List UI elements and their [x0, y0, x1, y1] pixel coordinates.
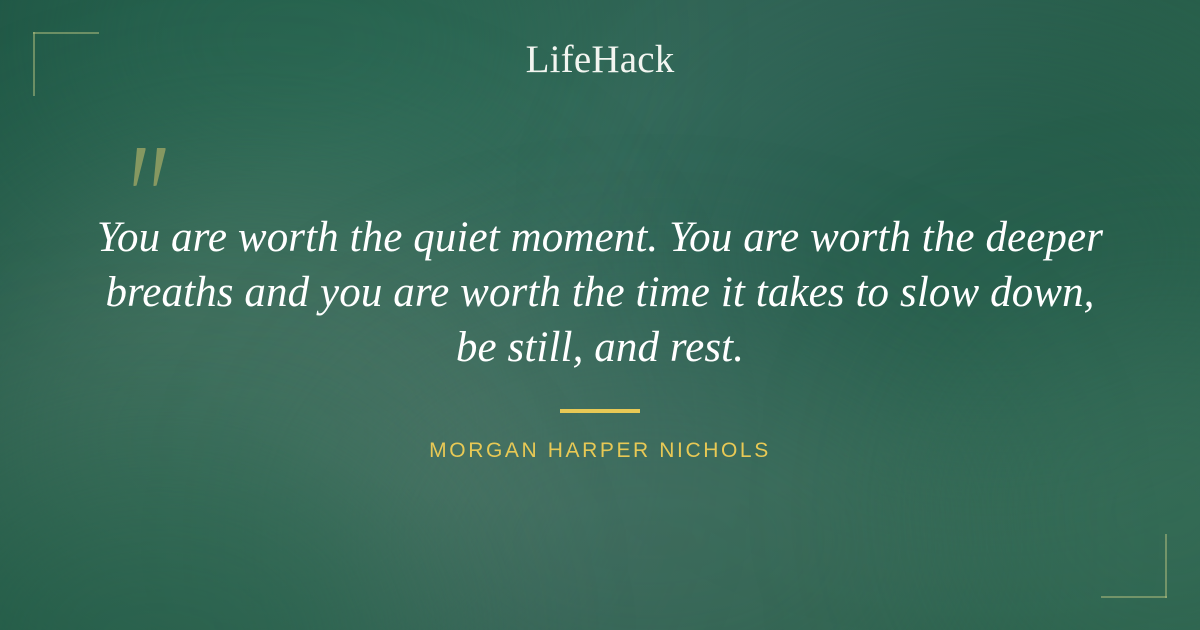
quote-stroke-right: [149, 148, 166, 186]
corner-bracket-icon-bottom-right: [1101, 534, 1167, 598]
attribution-divider: [560, 409, 640, 413]
quote-stroke-left: [129, 148, 146, 186]
quote-card: LifeHack You are worth the quiet moment.…: [0, 0, 1200, 630]
quote-text: You are worth the quiet moment. You are …: [86, 210, 1114, 375]
brand-logo: LifeHack: [0, 40, 1200, 79]
double-quote-icon: [130, 142, 176, 190]
quote-author: MORGAN HARPER NICHOLS: [0, 438, 1200, 464]
